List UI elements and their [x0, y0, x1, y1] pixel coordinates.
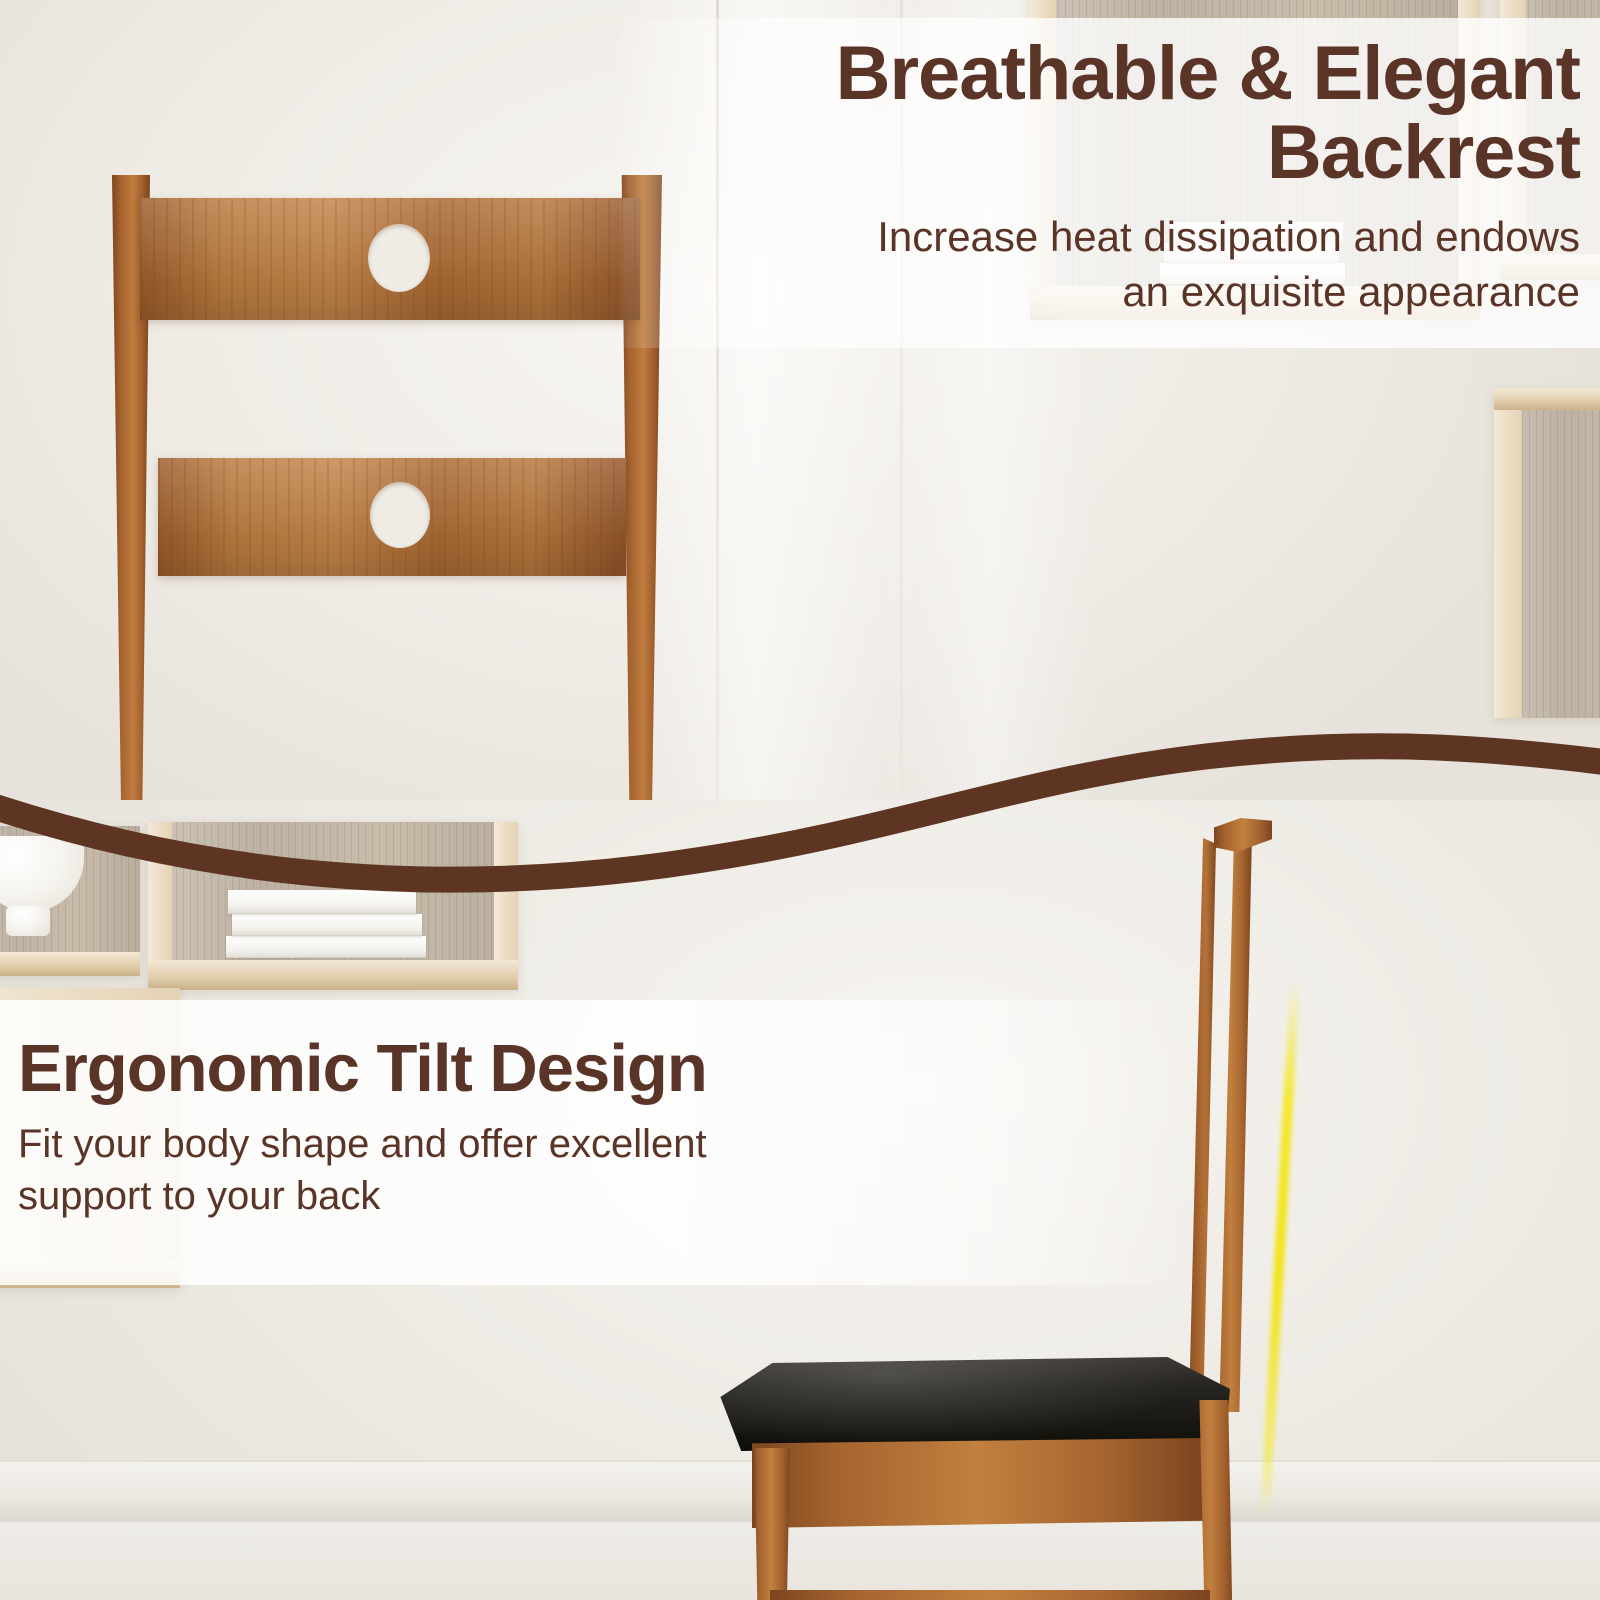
upper-ventilation-hole	[368, 224, 430, 292]
wall-shelf-box-right	[1494, 388, 1600, 718]
front-leg	[752, 1448, 790, 1600]
bottom-subline: Fit your body shape and offer excellent …	[18, 1118, 978, 1222]
bottom-headline-line-1: Ergonomic Tilt Design	[18, 1034, 978, 1104]
backrest-slat	[1182, 838, 1216, 1416]
backrest-upper-slat	[140, 198, 640, 320]
backrest-lower-slat	[158, 458, 626, 576]
top-text-block: Breathable & Elegant Backrest Increase h…	[640, 34, 1580, 319]
shelf-bottom-lip	[148, 960, 518, 990]
wave-divider	[0, 690, 1600, 920]
bottom-headline: Ergonomic Tilt Design	[18, 1034, 978, 1104]
shelf-top-lip	[1494, 388, 1600, 410]
bottom-text-block: Ergonomic Tilt Design Fit your body shap…	[18, 1034, 978, 1222]
bottom-subline-line-1: Fit your body shape and offer excellent	[18, 1118, 978, 1170]
book	[226, 936, 426, 958]
seat-apron	[752, 1438, 1204, 1528]
shelf-left-wall	[1494, 388, 1522, 718]
top-headline-line-1: Breathable & Elegant	[640, 34, 1580, 113]
tilt-reference-line	[1260, 980, 1300, 1520]
top-subline: Increase heat dissipation and endows an …	[640, 210, 1580, 319]
infographic-canvas: Breathable & Elegant Backrest Increase h…	[0, 0, 1600, 1600]
top-headline-line-2: Backrest	[640, 113, 1580, 192]
top-subline-line-2: an exquisite appearance	[640, 265, 1580, 320]
wave-divider-stroke	[0, 746, 1600, 879]
top-subline-line-1: Increase heat dissipation and endows	[640, 210, 1580, 265]
wave-divider-svg	[0, 690, 1600, 920]
bottom-subline-line-2: support to your back	[18, 1170, 978, 1222]
shelf-bottom-lip	[0, 952, 140, 976]
side-stretcher	[770, 1590, 1210, 1600]
lower-ventilation-hole	[370, 482, 430, 548]
top-headline: Breathable & Elegant Backrest	[640, 34, 1580, 192]
